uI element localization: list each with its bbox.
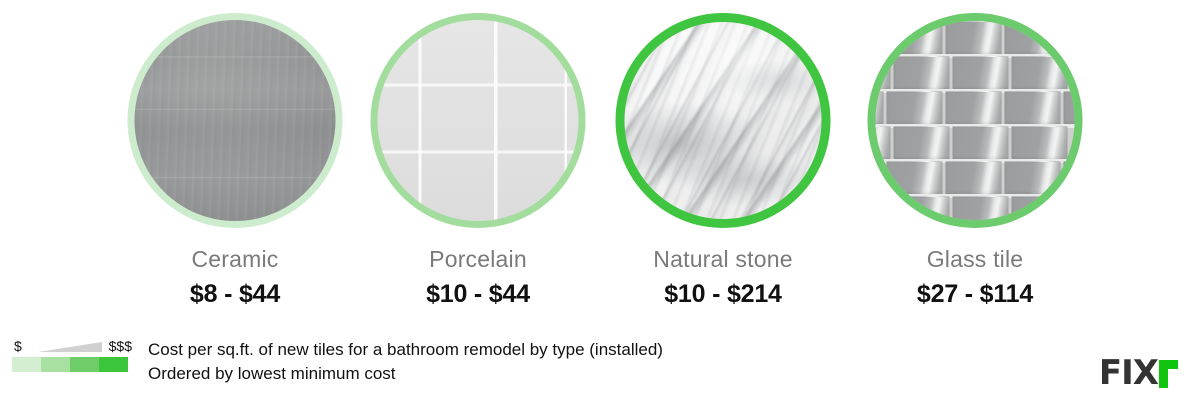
legend-swatch-3 — [70, 357, 99, 372]
glass-brick — [952, 126, 1008, 161]
tile-price-porcelain: $10 - $44 — [356, 280, 600, 309]
tile-type-name-ceramic: Ceramic — [113, 246, 357, 273]
glass-brick — [876, 196, 891, 220]
glass-brick — [876, 161, 884, 196]
tile-type-card-glass-tile[interactable]: Glass tile $27 - $114 — [853, 0, 1097, 320]
glass-brick — [894, 196, 950, 220]
fixr-logo-wordmark: FIX — [1099, 358, 1158, 388]
legend-swatch-1 — [12, 357, 41, 372]
glass-brick — [1063, 21, 1074, 56]
legend-swatch-4 — [99, 357, 128, 372]
glass-brick — [876, 126, 891, 161]
tile-cost-infographic: Ceramic $8 - $44 Porcelain $10 - $44 Nat… — [0, 0, 1200, 412]
tile-type-card-natural-stone[interactable]: Natural stone $10 - $214 — [601, 0, 845, 320]
tile-price-natural-stone: $10 - $214 — [601, 280, 845, 309]
glass-brick — [876, 91, 884, 126]
cost-increase-wedge-icon — [38, 342, 102, 353]
glass-brick — [894, 56, 950, 91]
glass-brick — [946, 91, 1002, 126]
tile-type-card-ceramic[interactable]: Ceramic $8 - $44 — [113, 0, 357, 320]
ceramic-tile-photo — [135, 20, 336, 221]
glass-brick-row — [876, 21, 1075, 56]
glass-brick — [876, 56, 891, 91]
glass-brick-row — [876, 56, 1071, 91]
glass-brick — [876, 21, 884, 56]
legend-caption-line-1: Cost per sq.ft. of new tiles for a bathr… — [148, 338, 848, 361]
glass-brick — [1004, 21, 1060, 56]
tile-price-ceramic: $8 - $44 — [113, 280, 357, 309]
tile-type-card-row: Ceramic $8 - $44 Porcelain $10 - $44 Nat… — [0, 0, 1200, 320]
tile-type-name-glass-tile: Glass tile — [853, 246, 1097, 273]
glass-brick — [1011, 56, 1067, 91]
glass-brick — [1063, 161, 1074, 196]
fixr-logo-r-mark-icon — [1159, 360, 1178, 388]
glass-brick — [952, 196, 1008, 220]
glass-brick — [1011, 126, 1067, 161]
glass-brick — [1063, 91, 1074, 126]
natural-stone-circle — [616, 13, 831, 228]
natural-stone-tile-photo — [625, 22, 822, 219]
legend-caption-line-2: Ordered by lowest minimum cost — [148, 362, 848, 385]
legend-max-cost-label: $$$ — [109, 338, 132, 354]
tile-type-card-porcelain[interactable]: Porcelain $10 - $44 — [356, 0, 600, 320]
glass-brick-row — [876, 126, 1071, 161]
glass-brick — [1004, 91, 1060, 126]
tile-type-name-porcelain: Porcelain — [356, 246, 600, 273]
tile-price-glass-tile: $27 - $114 — [853, 280, 1097, 309]
glass-tile-circle — [868, 13, 1083, 228]
glass-brick — [887, 21, 943, 56]
glass-brick — [887, 91, 943, 126]
glass-brick — [894, 126, 950, 161]
glass-brick — [1004, 161, 1060, 196]
legend: $ $$$ Cost per sq.ft. of new tiles for a… — [12, 338, 832, 378]
glass-brick — [887, 161, 943, 196]
porcelain-tile-photo — [378, 20, 579, 221]
tile-type-name-natural-stone: Natural stone — [601, 246, 845, 273]
glass-brick-row — [876, 196, 1071, 220]
legend-gradient-bar — [12, 357, 128, 372]
glass-brick-row — [876, 161, 1075, 196]
ceramic-circle — [128, 13, 343, 228]
porcelain-circle — [371, 13, 586, 228]
legend-min-cost-label: $ — [14, 338, 22, 354]
fixr-logo[interactable]: FIX — [1099, 358, 1178, 392]
legend-swatch-2 — [41, 357, 70, 372]
glass-brick — [952, 56, 1008, 91]
glass-brick-row — [876, 91, 1075, 126]
glass-brick — [1011, 196, 1067, 220]
glass-brick — [946, 21, 1002, 56]
glass-tile-photo — [876, 21, 1075, 220]
legend-cost-scale: $ $$$ — [12, 338, 130, 378]
glass-brick — [946, 161, 1002, 196]
legend-caption: Cost per sq.ft. of new tiles for a bathr… — [148, 338, 848, 385]
